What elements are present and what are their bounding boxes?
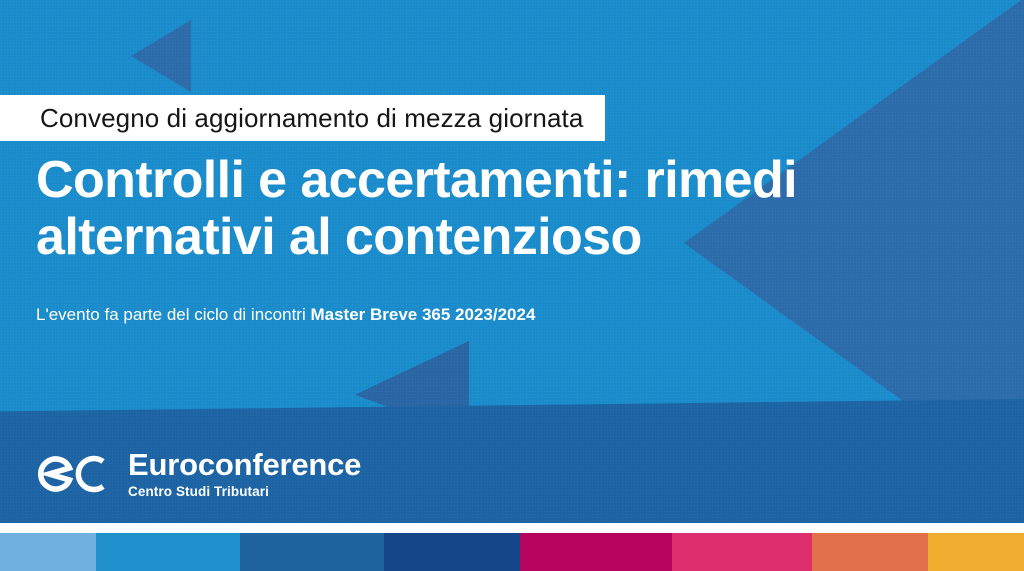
subtitle-series-name: Master Breve 365 2023/2024	[310, 305, 535, 324]
kicker-banner: Convegno di aggiornamento di mezza giorn…	[0, 95, 605, 141]
white-divider-gap	[0, 523, 1024, 533]
band-steel-blue	[240, 533, 384, 571]
page-title-line-1: Controlli e accertamenti: rimedi	[36, 152, 936, 209]
ec-monogram-icon	[38, 449, 116, 499]
brand-tagline: Centro Studi Tributari	[128, 485, 361, 499]
subtitle: L'evento fa parte del ciclo di incontri …	[36, 306, 535, 323]
band-pink	[672, 533, 812, 571]
band-magenta	[520, 533, 672, 571]
page-title: Controlli e accertamenti: rimedi alterna…	[36, 152, 936, 266]
brand-name: Euroconference	[128, 449, 361, 480]
kicker-text: Convegno di aggiornamento di mezza giorn…	[40, 105, 583, 131]
band-orange	[812, 533, 928, 571]
band-gold	[928, 533, 1024, 571]
color-stripe	[0, 533, 1024, 571]
page-title-line-2: alternativi al contenzioso	[36, 209, 936, 266]
brand-logo-text: Euroconference Centro Studi Tributari	[128, 449, 361, 499]
band-navy	[384, 533, 520, 571]
subtitle-prefix: L'evento fa parte del ciclo di incontri	[36, 305, 310, 324]
brand-logo: Euroconference Centro Studi Tributari	[38, 449, 361, 499]
band-blue	[96, 533, 240, 571]
band-light-blue	[0, 533, 96, 571]
event-title-slide: Convegno di aggiornamento di mezza giorn…	[0, 0, 1024, 571]
triangle-arrow-shape-top-left	[131, 20, 191, 92]
